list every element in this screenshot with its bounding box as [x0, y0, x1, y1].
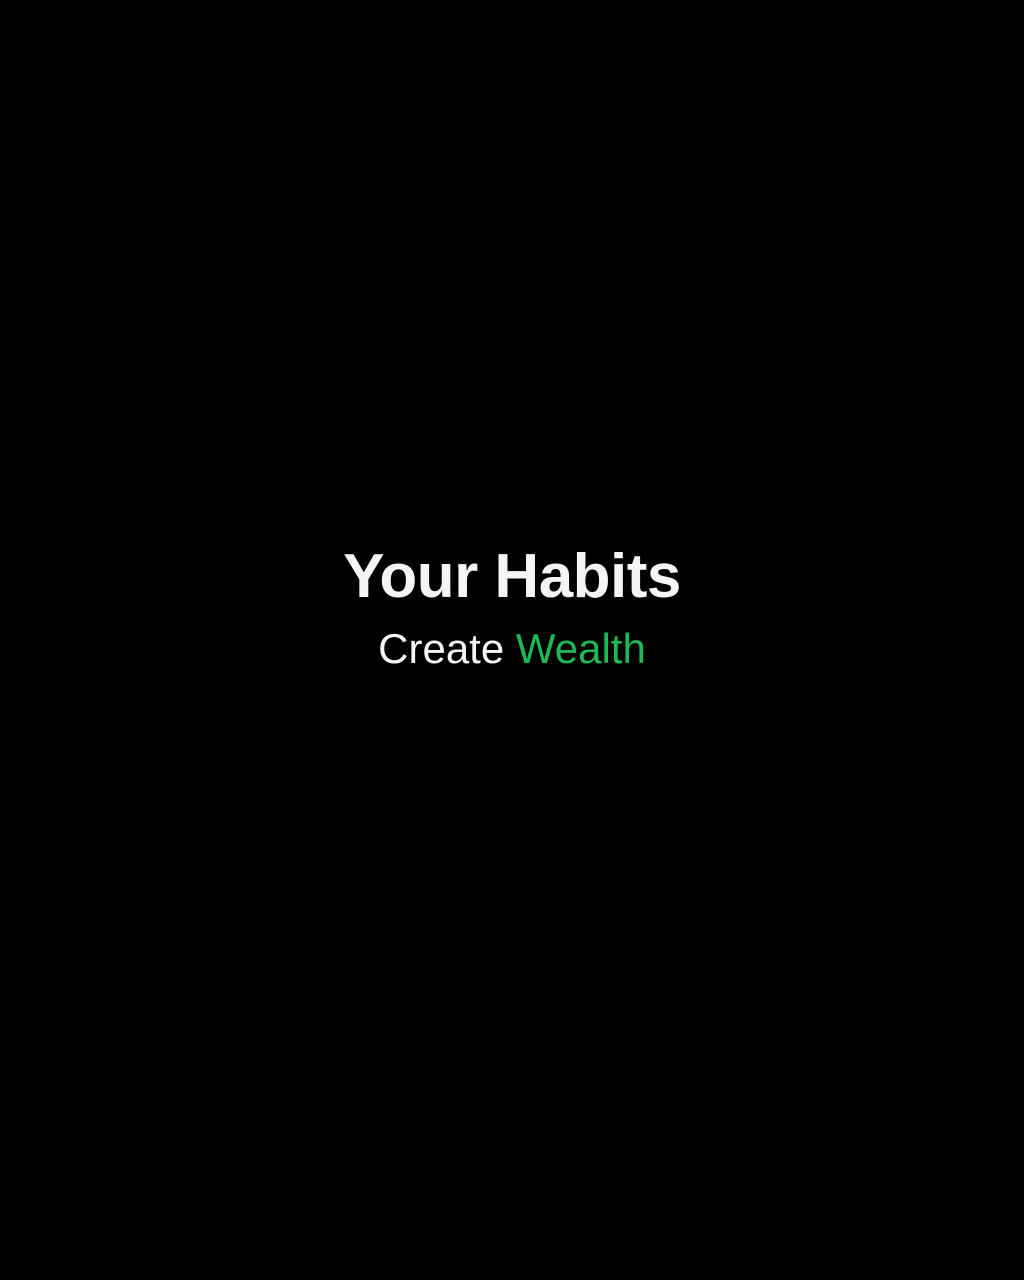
- subtitle-plain-text: Create: [378, 625, 516, 672]
- subtitle-accent-text: Wealth: [516, 625, 646, 672]
- headline-title: Your Habits: [343, 546, 681, 608]
- slide-root: Your Habits Create Wealth: [0, 0, 1024, 1280]
- centered-text-block: Your Habits Create Wealth: [0, 0, 1024, 1280]
- subtitle-line: Create Wealth: [378, 628, 646, 670]
